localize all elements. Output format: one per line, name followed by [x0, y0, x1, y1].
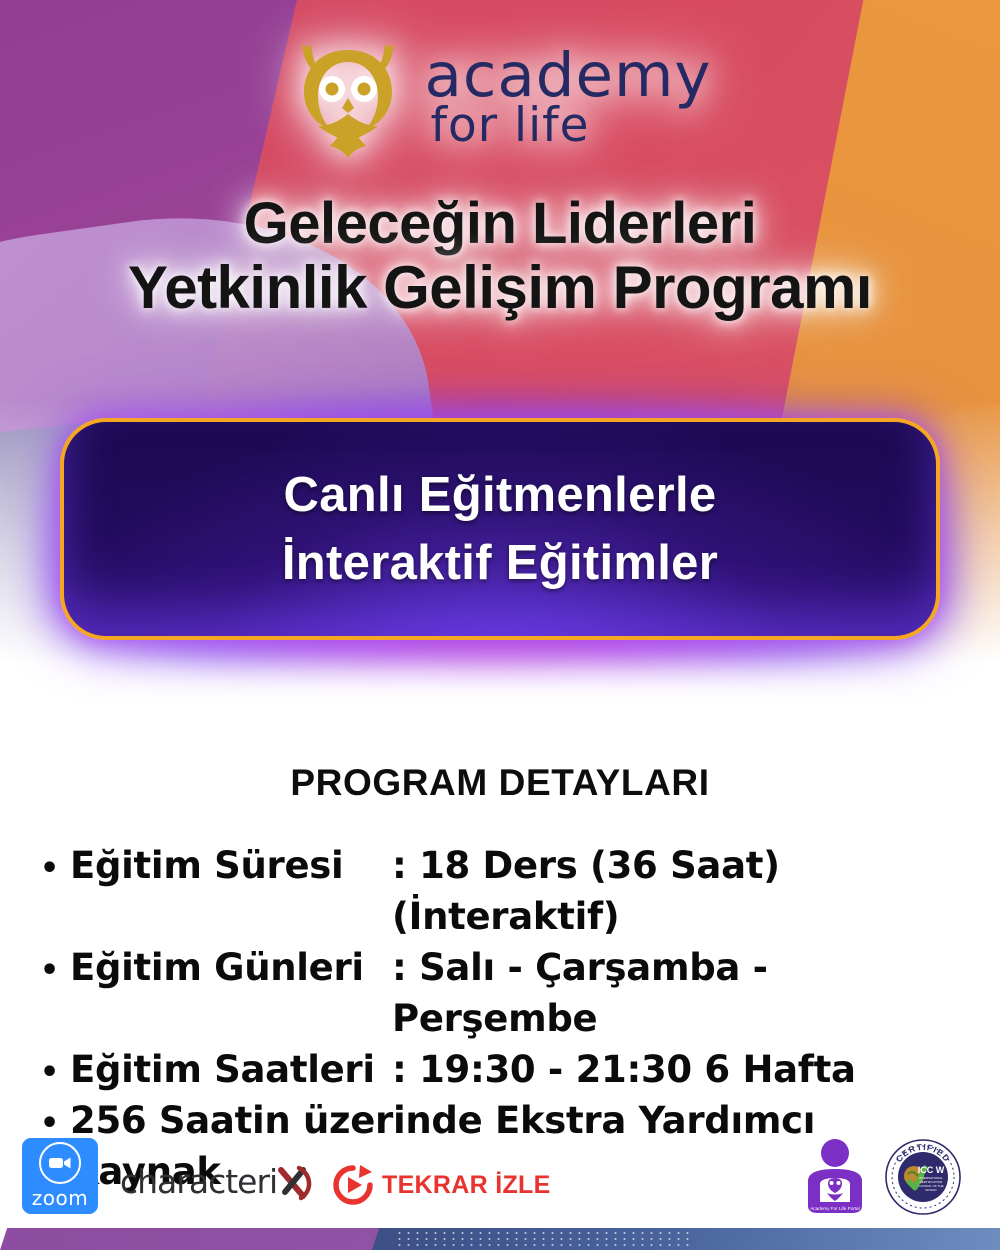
detail-value: : 19:30 - 21:30 6 Hafta [392, 1044, 970, 1095]
strip-dot-pattern [395, 1230, 695, 1248]
characterix-logo: characteri [120, 1160, 315, 1204]
bullet-icon: • [40, 956, 70, 986]
bullet-icon: • [40, 854, 70, 884]
seal-badge-text: ICC W [918, 1165, 945, 1175]
replay-play-icon [330, 1162, 376, 1208]
detail-value: : 18 Ders (36 Saat) (İnteraktif) [392, 840, 970, 942]
tekrar-izle-label: TEKRAR İZLE [382, 1171, 551, 1200]
detail-value: : Salı - Çarşamba - Perşembe [392, 942, 970, 1044]
owl-icon [288, 34, 408, 162]
bullet-icon: • [40, 1058, 70, 1088]
page-title: Geleceğin Liderleri Yetkinlik Gelişim Pr… [0, 192, 1000, 321]
strip-segment-purple [0, 1228, 407, 1250]
zoom-label: zoom [32, 1186, 88, 1210]
list-item: • Eğitim Saatleri : 19:30 - 21:30 6 Haft… [40, 1044, 970, 1095]
detail-label: Eğitim Günleri [70, 942, 392, 993]
headline-line-1: Geleceğin Liderleri [0, 192, 1000, 255]
characterix-word: characteri [120, 1162, 277, 1201]
zoom-logo: zoom [22, 1138, 98, 1214]
detail-label: Eğitim Saatleri [70, 1044, 392, 1095]
brand-logo: academy for life [0, 28, 1000, 168]
promo-poster: academy for life Geleceğin Liderleri Yet… [0, 0, 1000, 1250]
partner-logos: zoom characteri TEKRAR İZLE [0, 1128, 1000, 1228]
detail-label: Eğitim Süresi [70, 840, 392, 891]
svg-text:WORLD: WORLD [925, 1188, 937, 1192]
list-item: • Eğitim Süresi : 18 Ders (36 Saat) (İnt… [40, 840, 970, 942]
characterix-x-icon [273, 1160, 315, 1204]
banner-line-2: İnteraktif Eğitimler [282, 535, 718, 591]
highlight-banner: Canlı Eğitmenlerle İnteraktif Eğitimler [60, 418, 940, 640]
video-camera-icon [39, 1142, 81, 1184]
tekrar-izle-logo: TEKRAR İZLE [330, 1162, 551, 1208]
details-heading: PROGRAM DETAYLARI [0, 762, 1000, 804]
list-item: • Eğitim Günleri : Salı - Çarşamba - Per… [40, 942, 970, 1044]
headline-line-2: Yetkinlik Gelişim Programı [0, 255, 1000, 320]
academy-portal-person-icon: Academy For Life Portal [800, 1136, 870, 1220]
portal-caption: Academy For Life Portal [810, 1206, 859, 1211]
logo-text-academy: academy [424, 48, 711, 104]
bottom-decorative-strip [0, 1228, 1000, 1250]
logo-text-forlife: for life [430, 104, 711, 147]
certified-seal-icon: ICC W INTERNATIONAL CERTIFICATION COUNCI… [884, 1138, 962, 1216]
banner-line-1: Canlı Eğitmenlerle [284, 467, 717, 523]
